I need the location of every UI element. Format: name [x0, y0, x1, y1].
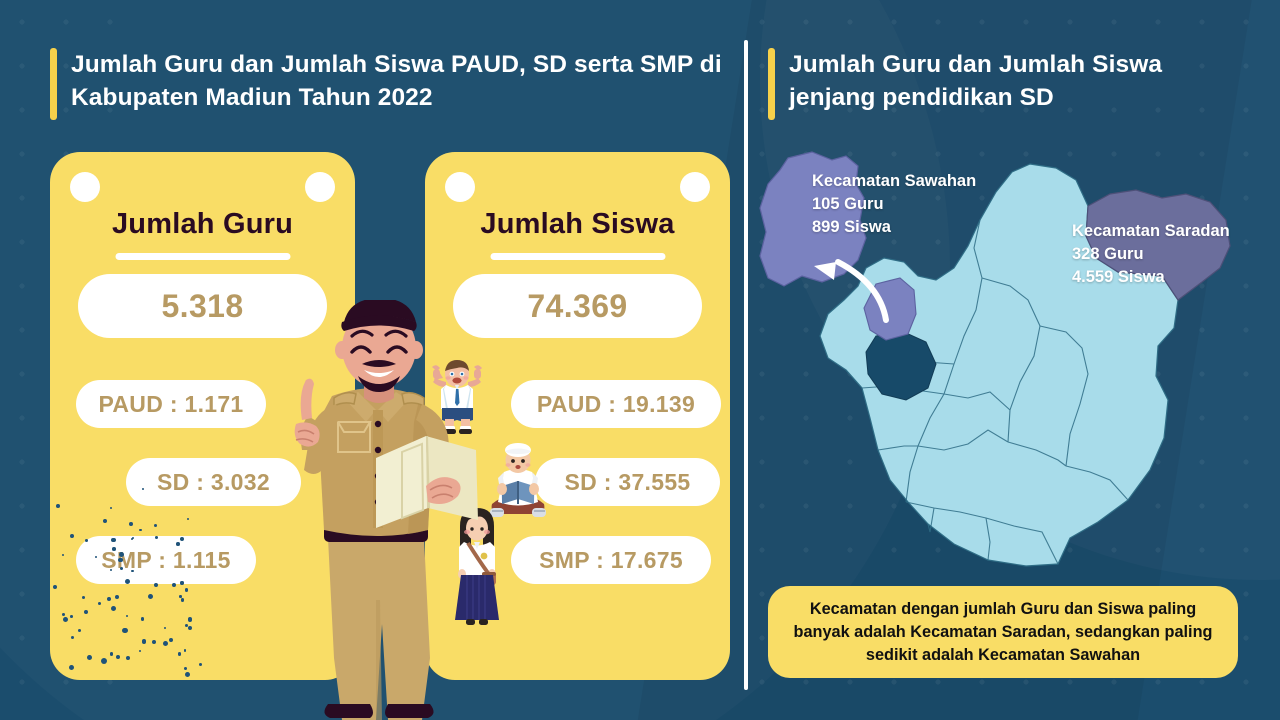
card-hole-icon [445, 172, 475, 202]
speckle-dot [62, 554, 64, 556]
speckle-dot [152, 640, 156, 644]
speckle-dot [139, 650, 141, 652]
title-accent-bar [768, 48, 775, 120]
speckle-dot [187, 518, 190, 521]
stat-pill-smp: SMP : 1.115 [76, 536, 256, 584]
speckle-dot [85, 539, 88, 542]
speckle-dot [115, 595, 119, 599]
speckle-dot [199, 663, 202, 666]
speckle-dot [103, 519, 107, 523]
speckle-dot [164, 627, 166, 629]
speckle-dot [110, 507, 112, 509]
speckle-dot [176, 542, 180, 546]
speckle-dot [53, 585, 57, 589]
card-hole-icon [70, 172, 100, 202]
stat-pill-sd: SD : 37.555 [535, 458, 720, 506]
speckle-dot [71, 636, 75, 640]
speckle-dot [148, 594, 153, 599]
speckle-dot [188, 617, 193, 622]
map-label-sawahan-teachers: 105 Guru [812, 193, 976, 216]
map-summary-caption: Kecamatan dengan jumlah Guru dan Siswa p… [768, 586, 1238, 678]
speckle-dot [184, 667, 187, 670]
speckle-dot [184, 649, 187, 652]
speckle-dot [122, 628, 127, 633]
speckle-dot [78, 629, 81, 632]
speckle-dot [163, 641, 168, 646]
speckle-dot [110, 652, 114, 656]
speckle-dot [185, 672, 190, 677]
speckle-dot [179, 595, 182, 598]
speckle-dot [87, 655, 92, 660]
map-label-saradan: Kecamatan Saradan 328 Guru 4.559 Siswa [1072, 220, 1230, 289]
speckle-dot [154, 524, 157, 527]
speckle-dot [180, 581, 183, 584]
speckle-dot [98, 602, 101, 605]
teacher-illustration [280, 300, 480, 720]
speckle-dot [185, 624, 188, 627]
speckle-dot [188, 626, 192, 630]
speckle-dot [111, 538, 115, 542]
speckle-dot [180, 537, 184, 541]
speckle-dot [84, 610, 88, 614]
speckle-dot [111, 606, 116, 611]
left-panel-title-text: Jumlah Guru dan Jumlah Siswa PAUD, SD se… [71, 48, 730, 114]
map-label-sawahan-name: Kecamatan Sawahan [812, 170, 976, 193]
left-panel-title: Jumlah Guru dan Jumlah Siswa PAUD, SD se… [50, 48, 730, 120]
map-label-sawahan: Kecamatan Sawahan 105 Guru 899 Siswa [812, 170, 976, 239]
right-panel-title-text: Jumlah Guru dan Jumlah Siswa jenjang pen… [789, 48, 1238, 114]
speckle-dot [70, 534, 74, 538]
card-underline [490, 253, 665, 260]
speckle-dot [107, 597, 111, 601]
speckle-dot [172, 583, 177, 588]
speckle-dot [139, 529, 142, 532]
speckle-dot [154, 583, 158, 587]
card-hole-icon [305, 172, 335, 202]
stat-pill-paud: PAUD : 1.171 [76, 380, 266, 428]
speckle-dot [129, 522, 133, 526]
map-label-sawahan-students: 899 Siswa [812, 216, 976, 239]
speckle-dot [169, 638, 173, 642]
speckle-dot [181, 598, 184, 601]
card-heading: Jumlah Siswa [425, 208, 730, 241]
speckle-dot [178, 652, 182, 656]
map-label-saradan-name: Kecamatan Saradan [1072, 220, 1230, 243]
panel-divider [744, 40, 748, 690]
map-label-saradan-teachers: 328 Guru [1072, 243, 1230, 266]
speckle-dot [155, 536, 158, 539]
speckle-dot [69, 665, 74, 670]
title-accent-bar [50, 48, 57, 120]
map-label-saradan-students: 4.559 Siswa [1072, 266, 1230, 289]
speckle-dot [101, 658, 107, 664]
stat-pill-smp: SMP : 17.675 [511, 536, 711, 584]
speckle-dot [63, 617, 69, 623]
speckle-dot [62, 613, 65, 616]
card-hole-icon [680, 172, 710, 202]
stat-pill-paud: PAUD : 19.139 [511, 380, 721, 428]
speckle-dot [126, 615, 128, 617]
speckle-dot [82, 596, 85, 599]
card-underline [115, 253, 290, 260]
stat-pill-sd: SD : 3.032 [126, 458, 301, 506]
card-total-value: 74.369 [453, 274, 702, 338]
speckle-dot [141, 617, 144, 620]
speckle-dot [116, 655, 120, 659]
speckle-dot [70, 615, 73, 618]
speckle-dot [142, 639, 147, 644]
speckle-dot [126, 656, 130, 660]
card-heading: Jumlah Guru [50, 208, 355, 241]
speckle-dot [56, 504, 60, 508]
speckle-dot [112, 547, 116, 551]
infographic-canvas: Jumlah Guru dan Jumlah Siswa PAUD, SD se… [0, 0, 1280, 720]
right-panel-title: Jumlah Guru dan Jumlah Siswa jenjang pen… [768, 48, 1238, 120]
speckle-dot [185, 588, 188, 591]
